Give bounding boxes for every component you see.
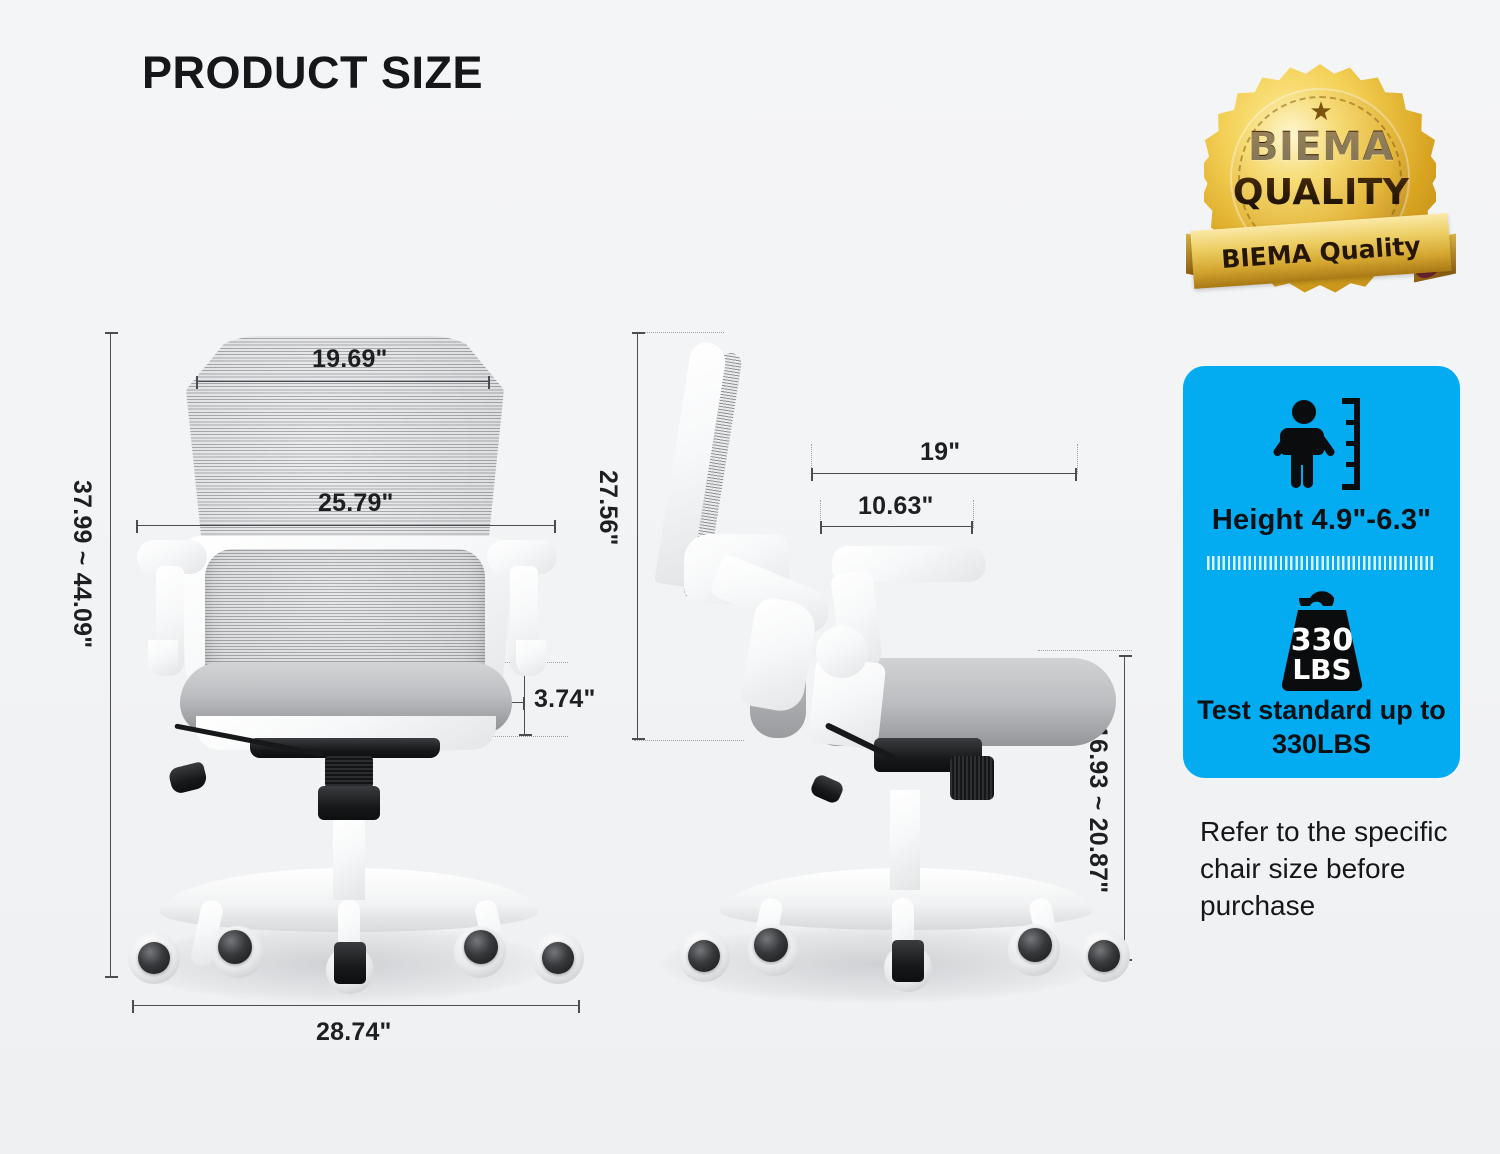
caster-side-hub-2: [754, 928, 788, 962]
caster-side-hub-4: [1018, 928, 1052, 962]
dim-side-seat-height: 16.93 ~ 20.87": [1083, 725, 1112, 893]
weight-330lbs-icon: 330 LBS: [1183, 584, 1460, 692]
dim-line-side-seat-height: [1124, 655, 1125, 961]
biema-quality-seal: ★ BIEMA QUALITY BIEMA Quality: [1186, 62, 1456, 312]
height-range-label: Height 4.9"-6.3": [1193, 504, 1450, 537]
gas-cylinder-column-side: [890, 790, 920, 890]
armrest-right-hook-front: [516, 640, 546, 676]
guide-side-top: [634, 332, 724, 333]
seal-brand-text: BIEMA: [1186, 124, 1456, 170]
backrest-lower-curve-side: [739, 595, 819, 714]
svg-text:LBS: LBS: [1292, 653, 1351, 686]
dim-front-base-width: 28.74": [316, 1018, 392, 1047]
gas-cylinder-column-front: [333, 818, 365, 900]
caster-hub-4: [464, 930, 498, 964]
star-icon: ★: [1186, 98, 1456, 124]
gas-cylinder-cap-front: [318, 786, 380, 820]
guide-side-seatheight-top: [1038, 650, 1132, 651]
guide-side-depth-right: [1077, 444, 1078, 474]
dim-line-side-seat-depth: [811, 473, 1077, 474]
dim-line-front-height: [110, 332, 111, 978]
dim-line-back-top-width: [196, 381, 490, 382]
caster-side-hub-5: [1088, 940, 1120, 972]
dim-side-back-height: 27.56": [593, 470, 622, 546]
tension-knob-side: [950, 756, 994, 800]
guide-side-arm-right: [973, 500, 974, 528]
seal-quality-text: QUALITY: [1186, 172, 1456, 213]
dim-line-overall-width: [136, 525, 556, 526]
spec-info-card: Height 4.9"-6.3" 330 LBS Test standard u…: [1183, 366, 1460, 778]
dim-side-seat-depth: 19": [920, 438, 960, 467]
caster-hub-5: [542, 942, 574, 974]
caster-hub-3: [334, 942, 366, 984]
card-divider: [1207, 556, 1436, 570]
armrest-left-hook-front: [148, 640, 178, 676]
armrest-pivot-hub-side: [816, 626, 868, 678]
dim-front-overall-width: 25.79": [318, 489, 394, 518]
gas-cylinder-collar-front: [325, 756, 373, 788]
dim-line-side-armrest-depth: [820, 526, 973, 527]
lever-knob-side: [809, 773, 845, 805]
dim-front-back-top-width: 19.69": [312, 345, 388, 374]
lever-knob-front: [167, 761, 208, 795]
dim-line-side-back-height: [637, 332, 638, 740]
caster-hub-1: [138, 942, 170, 974]
caster-side-hub-3: [892, 940, 924, 982]
dim-side-armrest-depth: 10.63": [858, 492, 934, 521]
person-with-ruler-icon: [1183, 396, 1460, 492]
guide-side-bottom: [634, 740, 744, 741]
purchase-note: Refer to the specific chair size before …: [1200, 813, 1465, 925]
dim-front-overall-height: 37.99 ~ 44.09": [67, 480, 96, 648]
product-size-infographic: PRODUCT SIZE: [0, 0, 1500, 1154]
caster-hub-2: [218, 930, 252, 964]
dim-line-base-width: [132, 1005, 580, 1006]
weight-capacity-label: Test standard up to 330LBS: [1193, 694, 1450, 762]
caster-side-hub-1: [688, 940, 720, 972]
dim-front-seat-thickness: 3.74": [534, 685, 596, 714]
